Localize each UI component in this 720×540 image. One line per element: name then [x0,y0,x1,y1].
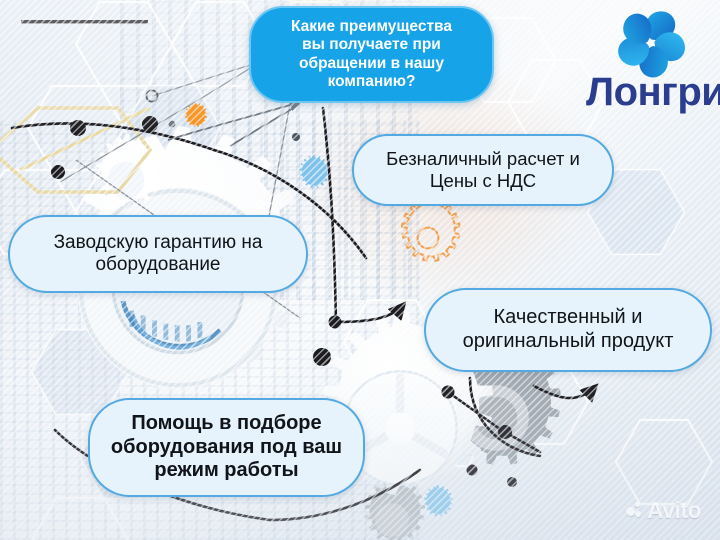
question-bubble[interactable]: Какие преимущества вы получаете при обра… [249,6,494,103]
avito-watermark: Avito [626,497,701,524]
poster-canvas: Какие преимущества вы получаете при обра… [0,0,720,540]
avito-dots-icon [626,502,643,519]
logo-wordmark: Лонгри [586,70,720,115]
gear-orange-outline [402,198,460,261]
company-logo[interactable]: Лонгри [588,4,720,116]
advantage-bubble-warranty[interactable]: Заводскую гарантию на оборудование [8,215,308,293]
pinwheel-flower-icon [614,6,688,80]
accent-bar [21,20,148,23]
advantage-bubble-quality[interactable]: Качественный и оригинальный продукт [424,288,712,372]
advantage-bubble-help[interactable]: Помощь в подборе оборудования под ваш ре… [88,398,365,497]
avito-label: Avito [647,497,701,524]
advantage-bubble-nds[interactable]: Безналичный расчет и Цены с НДС [352,134,614,206]
